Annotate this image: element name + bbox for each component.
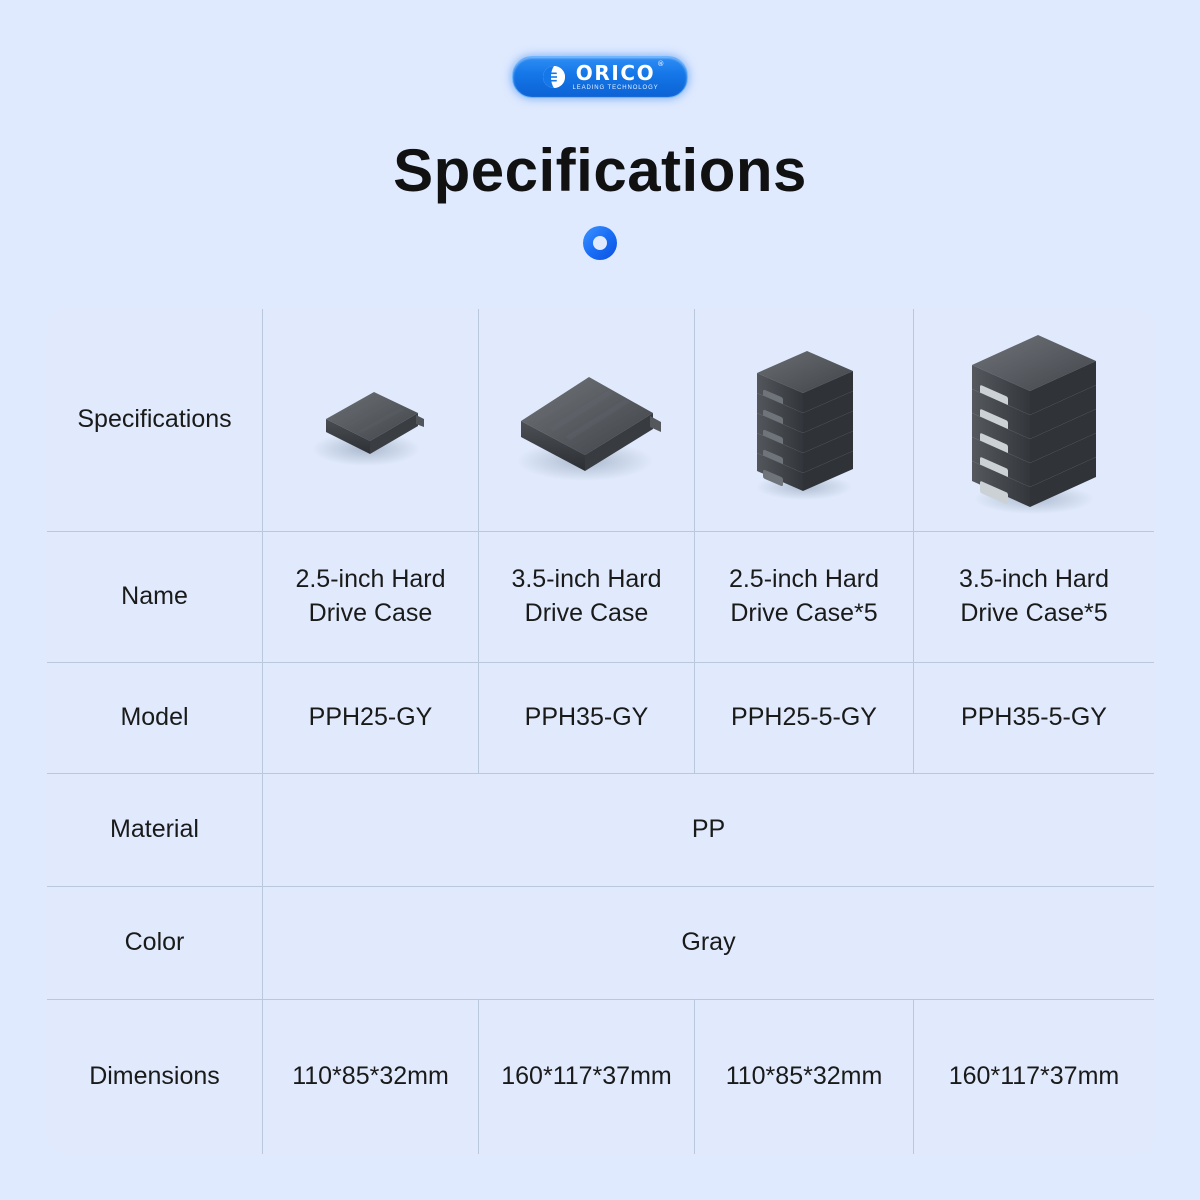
table-row-material: Material PP [47, 774, 1155, 887]
model-value-4: PPH35-5-GY [914, 663, 1155, 774]
name-line-2: Drive Case*5 [920, 597, 1148, 631]
model-value-3: PPH25-5-GY [695, 663, 914, 774]
name-line-1: 3.5-inch Hard [920, 563, 1148, 597]
dimensions-value-3: 110*85*32mm [695, 1000, 914, 1155]
specifications-table-container: Specifications [46, 308, 1154, 1155]
dimensions-value-4: 160*117*37mm [914, 1000, 1155, 1155]
name-value-2: 3.5-inch Hard Drive Case [479, 532, 695, 663]
color-value: Gray [263, 887, 1155, 1000]
blue-ring-icon [583, 226, 617, 260]
specifications-table: Specifications [46, 308, 1155, 1155]
name-value-1: 2.5-inch Hard Drive Case [263, 532, 479, 663]
table-row-product-images: Specifications [47, 309, 1155, 532]
registered-mark: ® [657, 61, 664, 68]
table-corner-label: Specifications [47, 309, 263, 532]
dimensions-value-1: 110*85*32mm [263, 1000, 479, 1155]
single-hard-drive-case-small-icon [269, 309, 472, 531]
row-label-material: Material [47, 774, 263, 887]
globe-icon [541, 64, 567, 90]
row-label-dimensions: Dimensions [47, 1000, 263, 1155]
single-hard-drive-case-large-icon [485, 309, 688, 531]
table-row-dimensions: Dimensions 110*85*32mm 160*117*37mm 110*… [47, 1000, 1155, 1155]
table-row-model: Model PPH25-GY PPH35-GY PPH25-5-GY PPH35… [47, 663, 1155, 774]
logo-wordmark: ORICO® [576, 63, 656, 83]
name-value-3: 2.5-inch Hard Drive Case*5 [695, 532, 914, 663]
logo-tagline: LEADING TECHNOLOGY [572, 85, 658, 91]
name-value-4: 3.5-inch Hard Drive Case*5 [914, 532, 1155, 663]
logo-pill: ORICO® LEADING TECHNOLOGY [512, 56, 688, 98]
row-label-name: Name [47, 532, 263, 663]
title-decorator [0, 226, 1200, 260]
dimensions-value-2: 160*117*37mm [479, 1000, 695, 1155]
name-line-1: 2.5-inch Hard [269, 563, 472, 597]
name-line-1: 2.5-inch Hard [701, 563, 907, 597]
logo-glow: ORICO® LEADING TECHNOLOGY [508, 52, 692, 102]
page-title: Specifications [0, 136, 1200, 205]
name-line-2: Drive Case [269, 597, 472, 631]
name-line-2: Drive Case*5 [701, 597, 907, 631]
stacked-hard-drive-cases-small-icon [701, 309, 907, 531]
name-line-1: 3.5-inch Hard [485, 563, 688, 597]
table-row-color: Color Gray [47, 887, 1155, 1000]
name-line-2: Drive Case [485, 597, 688, 631]
table-row-name: Name 2.5-inch Hard Drive Case 3.5-inch H… [47, 532, 1155, 663]
material-value: PP [263, 774, 1155, 887]
model-value-2: PPH35-GY [479, 663, 695, 774]
product-image-cell-1 [263, 309, 479, 532]
product-image-cell-2 [479, 309, 695, 532]
model-value-1: PPH25-GY [263, 663, 479, 774]
stacked-hard-drive-cases-large-icon [920, 309, 1148, 531]
product-image-cell-3 [695, 309, 914, 532]
row-label-color: Color [47, 887, 263, 1000]
product-image-cell-4 [914, 309, 1155, 532]
brand-logo: ORICO® LEADING TECHNOLOGY [0, 52, 1200, 102]
row-label-model: Model [47, 663, 263, 774]
